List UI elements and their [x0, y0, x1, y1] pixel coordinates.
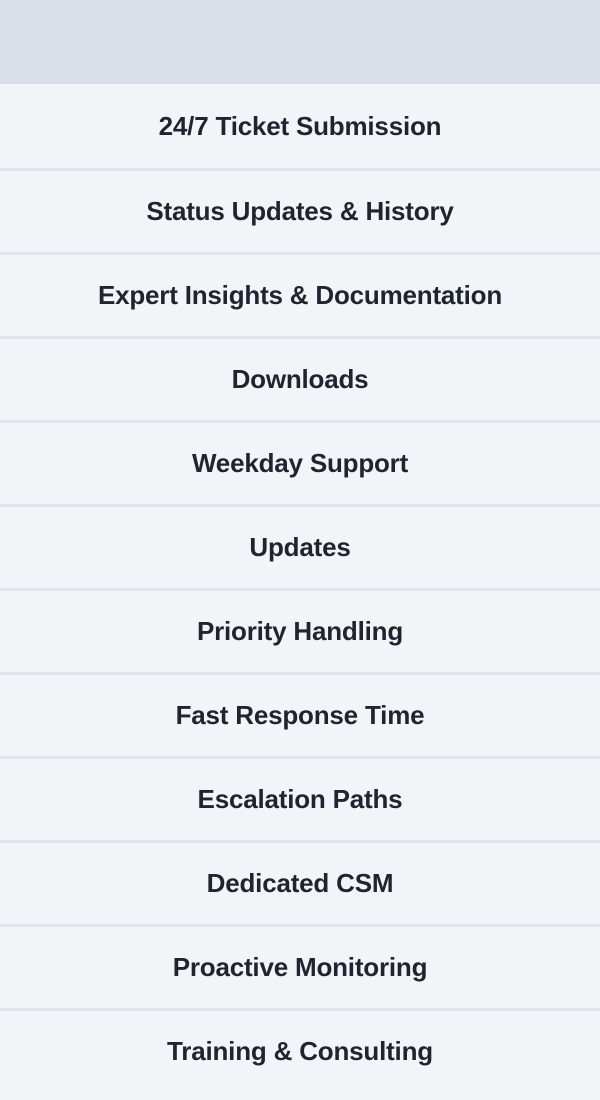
feature-row-ticket-submission[interactable]: 24/7 Ticket Submission	[0, 84, 600, 168]
feature-row-dedicated-csm[interactable]: Dedicated CSM	[0, 840, 600, 924]
feature-comparison-table: 24/7 Ticket Submission Status Updates & …	[0, 0, 600, 1100]
feature-label: Status Updates & History	[14, 196, 586, 227]
feature-label: Proactive Monitoring	[14, 952, 586, 983]
feature-label: Dedicated CSM	[14, 868, 586, 899]
feature-row-list: 24/7 Ticket Submission Status Updates & …	[0, 84, 600, 1100]
feature-label: Weekday Support	[14, 448, 586, 479]
feature-label: Escalation Paths	[14, 784, 586, 815]
feature-row-training-consulting[interactable]: Training & Consulting	[0, 1008, 600, 1092]
feature-row-escalation-paths[interactable]: Escalation Paths	[0, 756, 600, 840]
feature-row-expert-insights[interactable]: Expert Insights & Documentation	[0, 252, 600, 336]
feature-label: Fast Response Time	[14, 700, 586, 731]
feature-label: Expert Insights & Documentation	[14, 280, 586, 311]
table-header-label	[0, 0, 600, 84]
feature-label: Downloads	[14, 364, 586, 395]
feature-label: Training & Consulting	[14, 1036, 586, 1067]
feature-row-downloads[interactable]: Downloads	[0, 336, 600, 420]
feature-label: 24/7 Ticket Submission	[14, 111, 586, 142]
feature-row-proactive-monitoring[interactable]: Proactive Monitoring	[0, 924, 600, 1008]
feature-row-priority-handling[interactable]: Priority Handling	[0, 588, 600, 672]
feature-row-fast-response-time[interactable]: Fast Response Time	[0, 672, 600, 756]
feature-row-weekday-support[interactable]: Weekday Support	[0, 420, 600, 504]
feature-row-status-updates[interactable]: Status Updates & History	[0, 168, 600, 252]
table-header-band	[0, 0, 600, 84]
feature-row-updates[interactable]: Updates	[0, 504, 600, 588]
feature-label: Priority Handling	[14, 616, 586, 647]
feature-label: Updates	[14, 532, 586, 563]
